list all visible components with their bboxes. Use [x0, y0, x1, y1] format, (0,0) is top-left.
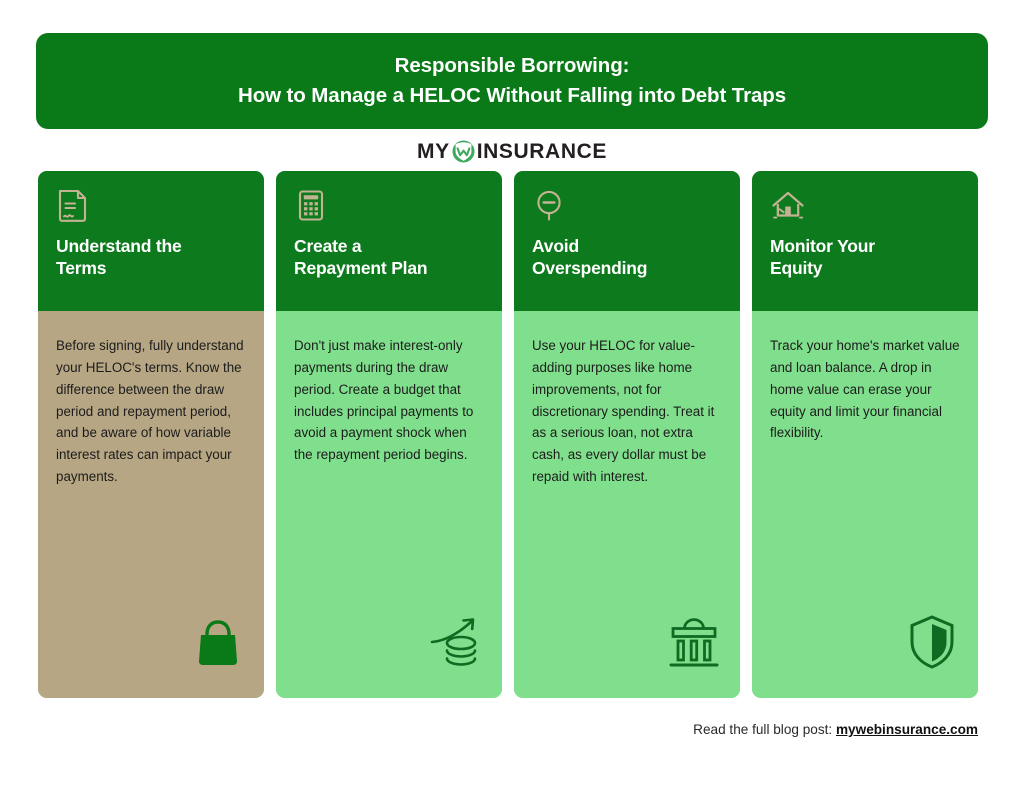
- card-title: Create a Repayment Plan: [294, 235, 484, 279]
- header-banner: Responsible Borrowing: How to Manage a H…: [36, 33, 988, 129]
- footer-cta: Read the full blog post: mywebinsurance.…: [693, 722, 978, 737]
- house-home-icon: [770, 188, 804, 224]
- card-body-text: Use your HELOC for value-adding purposes…: [532, 335, 722, 488]
- card-title: Avoid Overspending: [532, 235, 722, 279]
- card-body-text: Don't just make interest-only payments d…: [294, 335, 484, 466]
- logo-text-insurance: INSURANCE: [477, 141, 607, 162]
- card-title-line-1: Understand the: [56, 236, 182, 256]
- card-header: Avoid Overspending: [514, 171, 740, 311]
- header-title-line-2: How to Manage a HELOC Without Falling in…: [238, 81, 786, 111]
- bank-building-icon: [666, 614, 722, 670]
- card-body: Track your home's market value and loan …: [752, 311, 978, 698]
- card-title-line-1: Avoid: [532, 236, 579, 256]
- card-header: Understand the Terms: [38, 171, 264, 311]
- card-understand-the-terms: Understand the Terms Before signing, ful…: [38, 171, 264, 698]
- card-body: Use your HELOC for value-adding purposes…: [514, 311, 740, 698]
- card-title-line-2: Terms: [56, 258, 106, 278]
- card-monitor-your-equity: Monitor Your Equity Track your home's ma…: [752, 171, 978, 698]
- card-body-text: Track your home's market value and loan …: [770, 335, 960, 444]
- minus-circle-pin-icon: [532, 188, 566, 224]
- blog-link[interactable]: mywebinsurance.com: [836, 722, 978, 737]
- card-title-line-2: Overspending: [532, 258, 647, 278]
- card-title-line-2: Equity: [770, 258, 822, 278]
- card-header: Create a Repayment Plan: [276, 171, 502, 311]
- card-title: Monitor Your Equity: [770, 235, 960, 279]
- card-title-line-2: Repayment Plan: [294, 258, 427, 278]
- card-body: Don't just make interest-only payments d…: [276, 311, 502, 698]
- brand-logo: MY INSURANCE: [0, 136, 1024, 166]
- card-body: Before signing, fully understand your HE…: [38, 311, 264, 698]
- infographic-canvas: Responsible Borrowing: How to Manage a H…: [0, 0, 1024, 791]
- calculator-icon: [294, 188, 328, 224]
- card-header: Monitor Your Equity: [752, 171, 978, 311]
- card-body-text: Before signing, fully understand your HE…: [56, 335, 246, 488]
- card-avoid-overspending: Avoid Overspending Use your HELOC for va…: [514, 171, 740, 698]
- footer-prefix: Read the full blog post:: [693, 722, 836, 737]
- shopping-bag-icon: [190, 614, 246, 670]
- coins-growth-arrow-icon: [428, 614, 484, 670]
- shield-icon: [904, 614, 960, 670]
- card-title-line-1: Monitor Your: [770, 236, 875, 256]
- logo-text-my: MY: [417, 141, 450, 162]
- card-title: Understand the Terms: [56, 235, 246, 279]
- contract-document-icon: [56, 188, 90, 224]
- cards-container: Understand the Terms Before signing, ful…: [38, 171, 988, 698]
- shield-w-circle-icon: [451, 139, 476, 164]
- card-create-a-repayment-plan: Create a Repayment Plan Don't just make …: [276, 171, 502, 698]
- header-title-line-1: Responsible Borrowing:: [395, 51, 630, 81]
- card-title-line-1: Create a: [294, 236, 361, 256]
